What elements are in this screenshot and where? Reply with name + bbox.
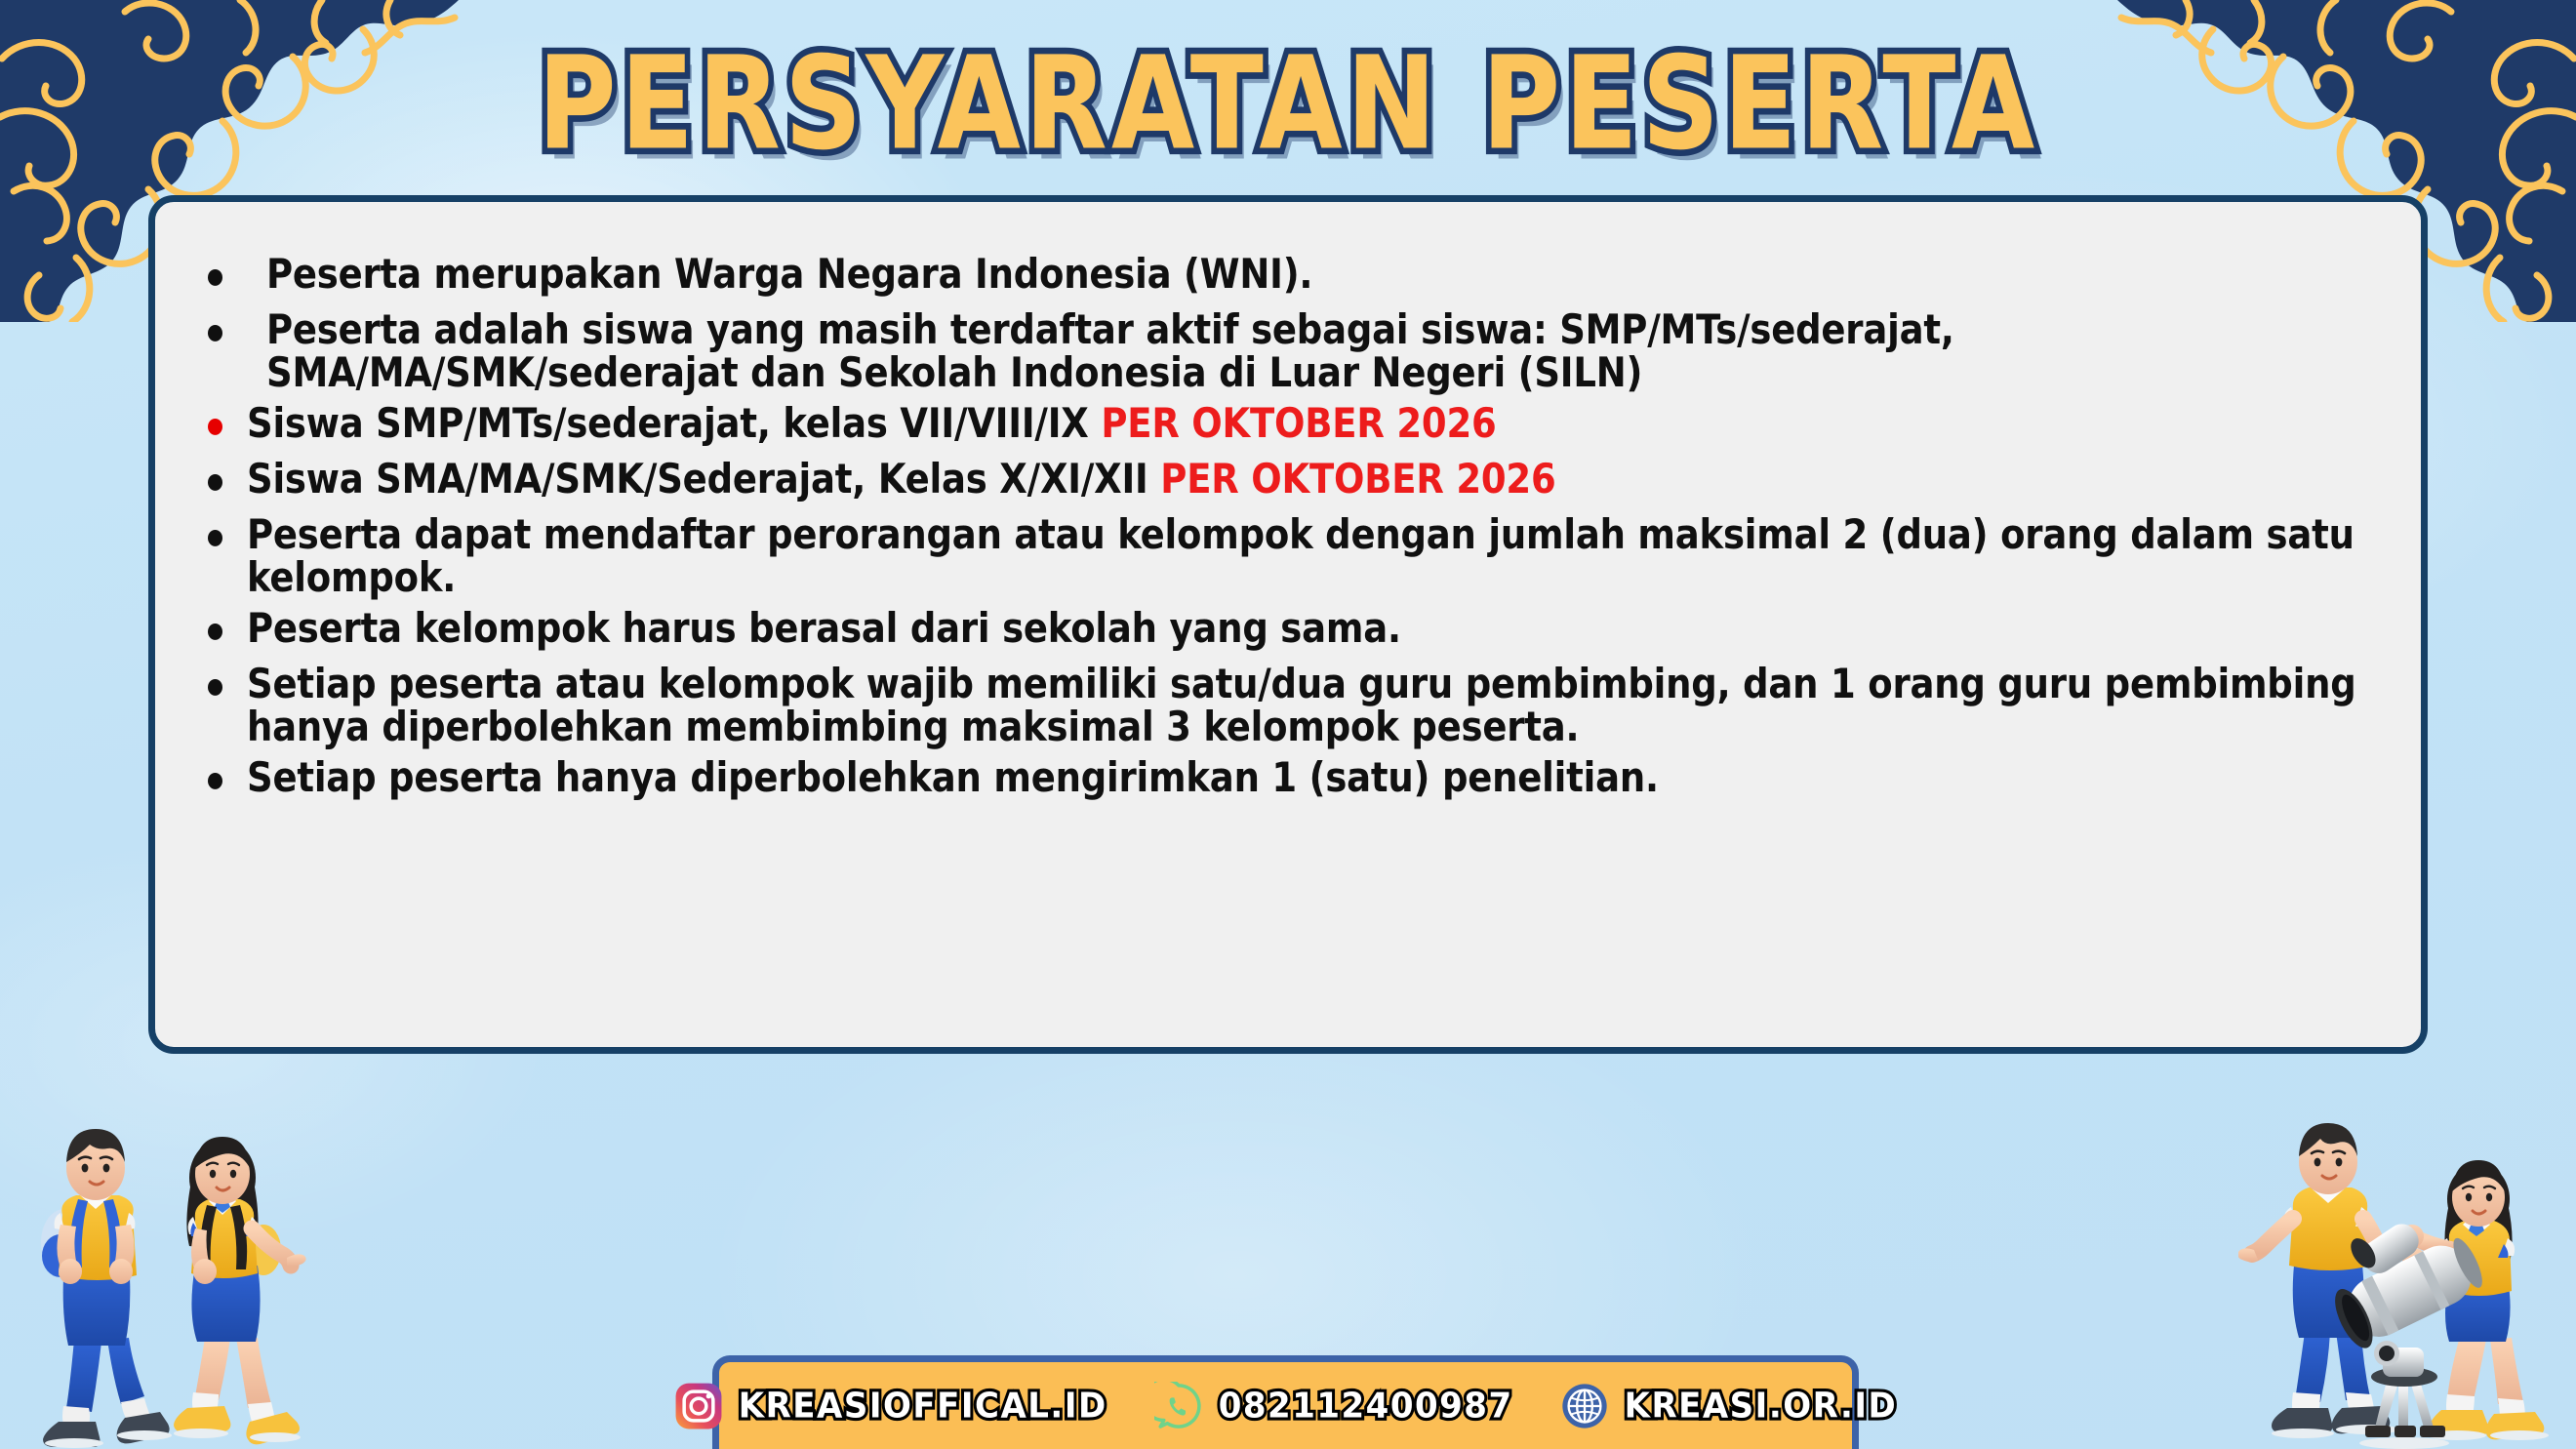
requirement-highlight: PER OKTOBER 2026 bbox=[1101, 400, 1496, 448]
bullet-marker bbox=[208, 773, 222, 789]
contact-website[interactable]: KREASI.OR.ID bbox=[1537, 1382, 1921, 1430]
student-girl bbox=[174, 1137, 306, 1444]
student-boy bbox=[41, 1129, 172, 1448]
requirements-list: Peserta merupakan Warga Negara Indonesia… bbox=[200, 253, 2376, 794]
student-girl-telescope bbox=[2400, 1160, 2549, 1440]
requirement-text: Peserta dapat mendaftar perorangan atau … bbox=[247, 511, 2355, 602]
requirement-highlight: PER OKTOBER 2026 bbox=[1160, 456, 1555, 503]
contact-instagram[interactable]: KREASIOFFICAL.ID bbox=[651, 1382, 1131, 1430]
instagram-icon bbox=[674, 1382, 723, 1430]
bullet-marker bbox=[208, 269, 222, 286]
requirement-text: Peserta adalah siswa yang masih terdafta… bbox=[266, 306, 1954, 397]
bullet-marker bbox=[208, 624, 222, 640]
requirement-item: Peserta merupakan Warga Negara Indonesia… bbox=[200, 253, 2376, 296]
requirement-text: Peserta merupakan Warga Negara Indonesia… bbox=[266, 251, 1312, 299]
student-boy-pointing bbox=[2238, 1123, 2398, 1438]
requirement-text: Peserta kelompok harus berasal dari seko… bbox=[247, 605, 1401, 653]
bullet-marker bbox=[208, 530, 222, 546]
bullet-marker bbox=[208, 679, 222, 696]
requirement-text: Setiap peserta hanya diperbolehkan mengi… bbox=[247, 754, 1659, 802]
title-container: PERSYARATAN PESERTA bbox=[0, 37, 2576, 147]
instagram-handle: KREASIOFFICAL.ID bbox=[739, 1386, 1107, 1427]
globe-icon bbox=[1560, 1382, 1609, 1430]
whatsapp-icon bbox=[1154, 1382, 1203, 1430]
requirement-item: Peserta adalah siswa yang masih terdafta… bbox=[200, 308, 2376, 394]
requirement-text: Setiap peserta atau kelompok wajib memil… bbox=[247, 661, 2356, 751]
requirement-item: Siswa SMP/MTs/sederajat, kelas VII/VIII/… bbox=[200, 402, 2376, 445]
bullet-marker bbox=[208, 325, 222, 342]
bullet-marker bbox=[208, 419, 222, 435]
contact-whatsapp[interactable]: 082112400987 bbox=[1131, 1382, 1537, 1430]
requirement-item: Peserta kelompok harus berasal dari seko… bbox=[200, 607, 2376, 650]
requirement-text: Siswa SMA/MA/SMK/Sederajat, Kelas X/XI/X… bbox=[247, 456, 1160, 503]
requirement-text: Siswa SMP/MTs/sederajat, kelas VII/VIII/… bbox=[247, 400, 1101, 448]
requirement-item: Setiap peserta atau kelompok wajib memil… bbox=[200, 663, 2376, 748]
requirement-item: Setiap peserta hanya diperbolehkan mengi… bbox=[200, 756, 2376, 799]
poster-canvas: PERSYARATAN PESERTA Peserta merupakan Wa… bbox=[0, 0, 2576, 1449]
requirement-item: Peserta dapat mendaftar perorangan atau … bbox=[200, 513, 2376, 599]
telescope bbox=[2310, 1194, 2490, 1449]
contact-footer-bar: KREASIOFFICAL.ID 082112400987 KREASI.OR.… bbox=[712, 1355, 1859, 1449]
requirement-item: Siswa SMA/MA/SMK/Sederajat, Kelas X/XI/X… bbox=[200, 458, 2376, 501]
page-title: PERSYARATAN PESERTA bbox=[538, 37, 2038, 172]
website-url: KREASI.OR.ID bbox=[1625, 1386, 1898, 1427]
whatsapp-number: 082112400987 bbox=[1219, 1386, 1513, 1427]
bullet-marker bbox=[208, 474, 222, 491]
requirements-card: Peserta merupakan Warga Negara Indonesia… bbox=[148, 195, 2428, 1054]
two-students-telescope-illustration bbox=[2238, 1107, 2570, 1449]
two-students-walking-illustration bbox=[18, 1107, 340, 1449]
